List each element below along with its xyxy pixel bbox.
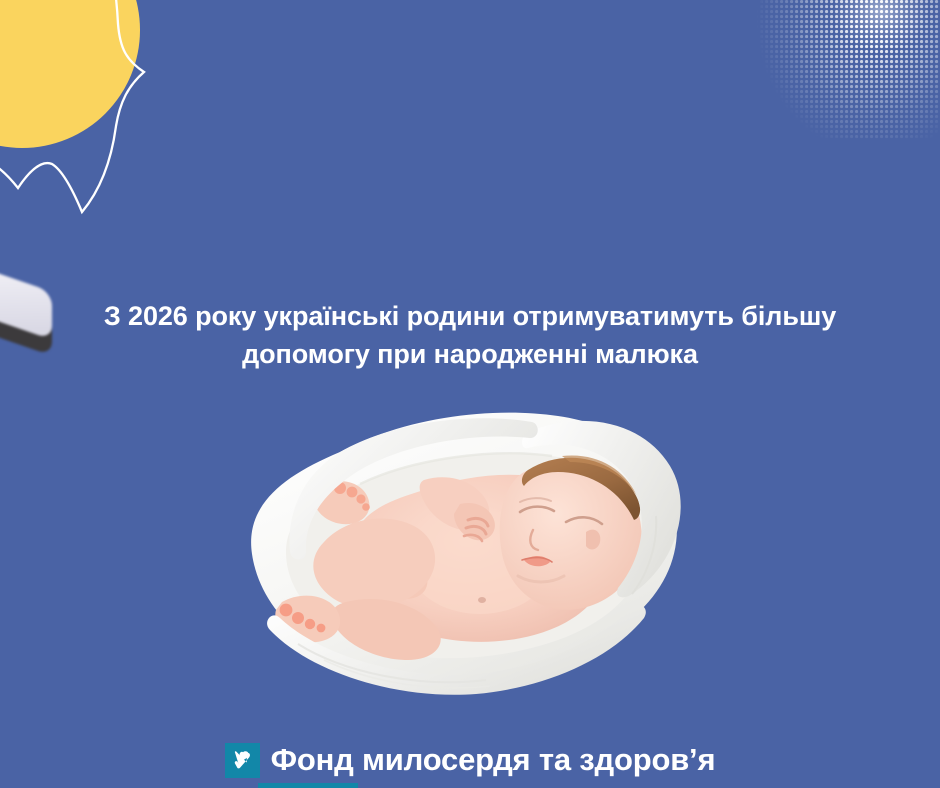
- yellow-circle: [0, 0, 140, 148]
- halftone-dot-pattern: [740, 0, 940, 140]
- page-title: З 2026 року українські родини отримувати…: [50, 298, 890, 374]
- headline-line-1: З 2026 року українські родини отримувати…: [50, 298, 890, 336]
- brand-name: Фонд милосердя та здоров’я: [271, 742, 716, 778]
- poster-canvas: З 2026 року українські родини отримувати…: [0, 0, 940, 788]
- brand-underline-accent: [258, 783, 358, 788]
- newborn-baby-photo: [228, 412, 690, 712]
- blurred-3d-slab: [0, 270, 56, 348]
- brand-footer: Фонд милосердя та здоров’я: [0, 730, 940, 788]
- halftone-dots: [740, 0, 940, 140]
- heart-bird-logo-icon: [225, 743, 260, 778]
- headline-line-2: допомогу при народженні малюка: [50, 336, 890, 374]
